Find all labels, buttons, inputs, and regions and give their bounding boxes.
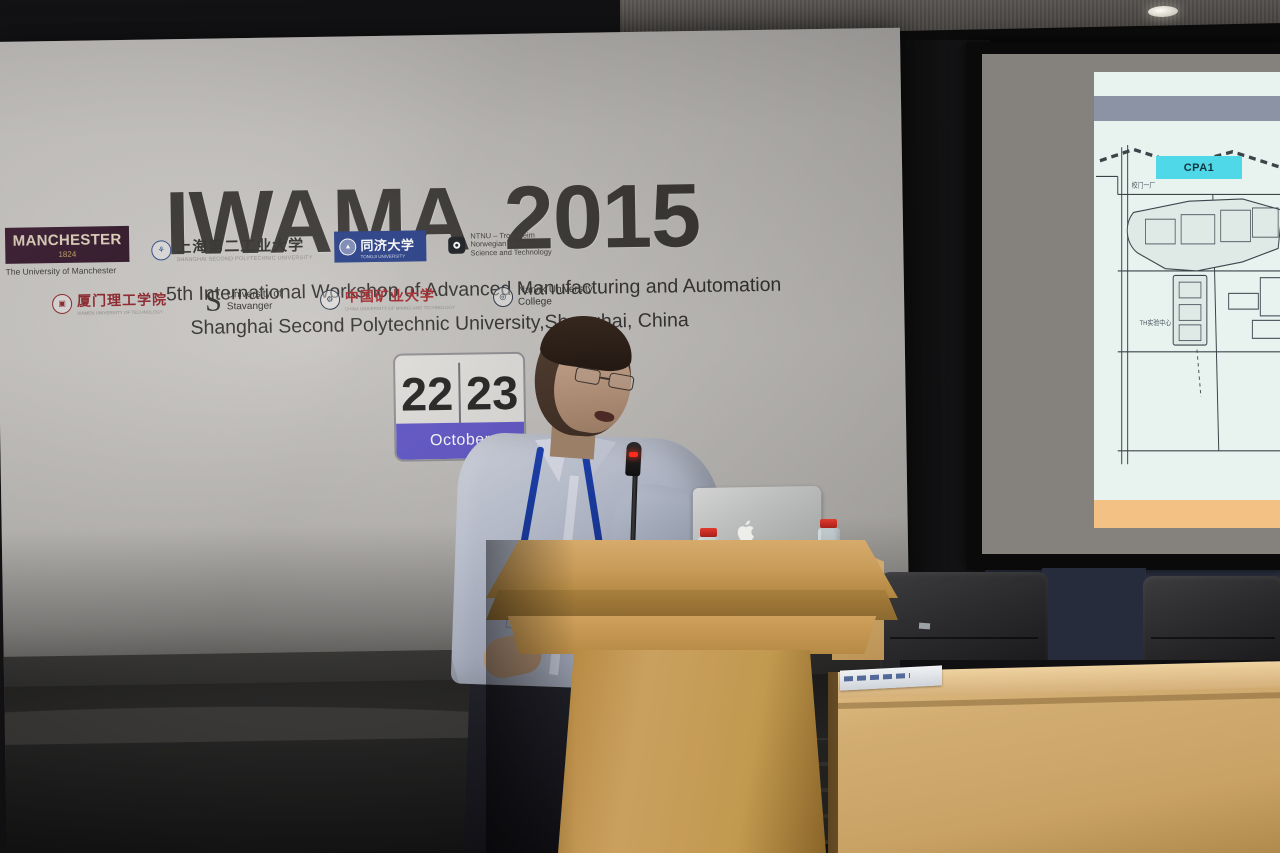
screen-surface: 校门一厂 TH实验中心 CPA1 (982, 54, 1280, 554)
logo-xiamen-university-of-technology: ▣ 厦门理工学院 XIAMEN UNIVERSITY OF TECHNOLOGY (52, 289, 167, 316)
manchester-caption: The University of Manchester (6, 265, 130, 277)
logo-ntnu: NTNU – Trondheim Norwegian University of… (448, 231, 552, 258)
xmut-name-en: XIAMEN UNIVERSITY OF TECHNOLOGY (77, 309, 167, 315)
logo-shanghai-second-polytechnic: ⚘ 上海第二工业大学 SHANGHAI SECOND POLYTECHNIC U… (151, 234, 313, 264)
cumt-name-en: CHINA UNIVERSITY OF MINING AND TECHNOLOG… (345, 305, 455, 312)
tongji-name-en: TONGJI UNIVERSITY (361, 253, 415, 259)
lens-left (574, 366, 601, 385)
banner-wrinkles (0, 28, 902, 192)
stavanger-line-1: University of (227, 289, 282, 301)
xmut-name-cn: 厦门理工学院 (77, 289, 167, 310)
podium-column (558, 650, 826, 853)
logo-manchester: MANCHESTER 1824 The University of Manche… (5, 226, 130, 277)
sspu-name-en: SHANGHAI SECOND POLYTECHNIC UNIVERSITY (176, 255, 312, 263)
logo-china-university-of-mining: ⚙ 中国矿业大学 CHINA UNIVERSITY OF MINING AND … (320, 285, 455, 312)
bottle-neck (919, 623, 930, 630)
cpa1-map-label: CPA1 (1156, 156, 1242, 179)
chair-seam (1151, 637, 1274, 639)
microphone-icon (625, 442, 642, 477)
speaker-hair (538, 310, 636, 374)
tongji-name-cn: 同济大学 (360, 234, 414, 254)
bottle-cap (700, 528, 717, 537)
tongji-seal-icon: ▲ (339, 238, 356, 255)
narvik-line-2: College (518, 295, 593, 308)
podium-shadow (486, 540, 576, 853)
stavanger-caption: University of Stavanger (227, 289, 282, 313)
slide-top-band (1094, 96, 1280, 121)
narvik-seal-icon: ◎ (493, 286, 513, 306)
day-start: 22 (395, 355, 459, 428)
cumt-name-cn: 中国矿业大学 (345, 285, 455, 307)
tongji-mark: ▲ 同济大学 TONGJI UNIVERSITY (334, 230, 426, 262)
panel-desk (838, 672, 1280, 853)
stavanger-symbol-icon: S (205, 289, 222, 313)
svg-text:TH实验中心: TH实验中心 (1140, 317, 1172, 327)
lens-right (608, 372, 635, 391)
svg-text:校门一厂: 校门一厂 (1132, 180, 1156, 190)
manchester-mark: MANCHESTER 1824 (5, 226, 130, 264)
presentation-slide: 校门一厂 TH实验中心 CPA1 (1094, 72, 1280, 528)
narvik-caption: Narvik University College (518, 284, 593, 308)
sponsor-logo-row-1: MANCHESTER 1824 The University of Manche… (5, 219, 552, 277)
speaker-head (531, 315, 635, 439)
logo-narvik-university-college: ◎ Narvik University College (493, 284, 593, 309)
speaker-podium (486, 540, 898, 853)
cumt-seal-icon: ⚙ (320, 289, 340, 309)
site-map-graphic: 校门一厂 TH实验中心 (1094, 127, 1280, 498)
microphone-led-indicator (629, 452, 638, 457)
chair-seam (890, 637, 1038, 639)
projection-screen: 校门一厂 TH实验中心 CPA1 (966, 42, 1280, 570)
ntnu-line-3: Science and Technology (470, 248, 551, 258)
sspu-seal-icon: ⚘ (151, 240, 171, 260)
manchester-name: MANCHESTER (13, 231, 122, 250)
manchester-year: 1824 (58, 249, 76, 258)
slide-bottom-band (1094, 500, 1280, 528)
glasses-bridge (600, 377, 609, 380)
logo-university-of-stavanger: S University of Stavanger (205, 288, 282, 313)
xmut-seal-icon: ▣ (52, 293, 72, 313)
narvik-line-1: Narvik University (518, 284, 593, 297)
bottle-cap (820, 519, 837, 528)
ntnu-caption: NTNU – Trondheim Norwegian University of… (470, 231, 552, 258)
stavanger-line-2: Stavanger (227, 300, 282, 312)
sspu-name-cn: 上海第二工业大学 (176, 234, 312, 257)
conference-photo-scene: 校门一厂 TH实验中心 CPA1 IWAMA2015 5th Internati… (0, 0, 1280, 853)
ntnu-mark-icon (448, 237, 465, 254)
logo-tongji-university: ▲ 同济大学 TONGJI UNIVERSITY (334, 230, 426, 262)
